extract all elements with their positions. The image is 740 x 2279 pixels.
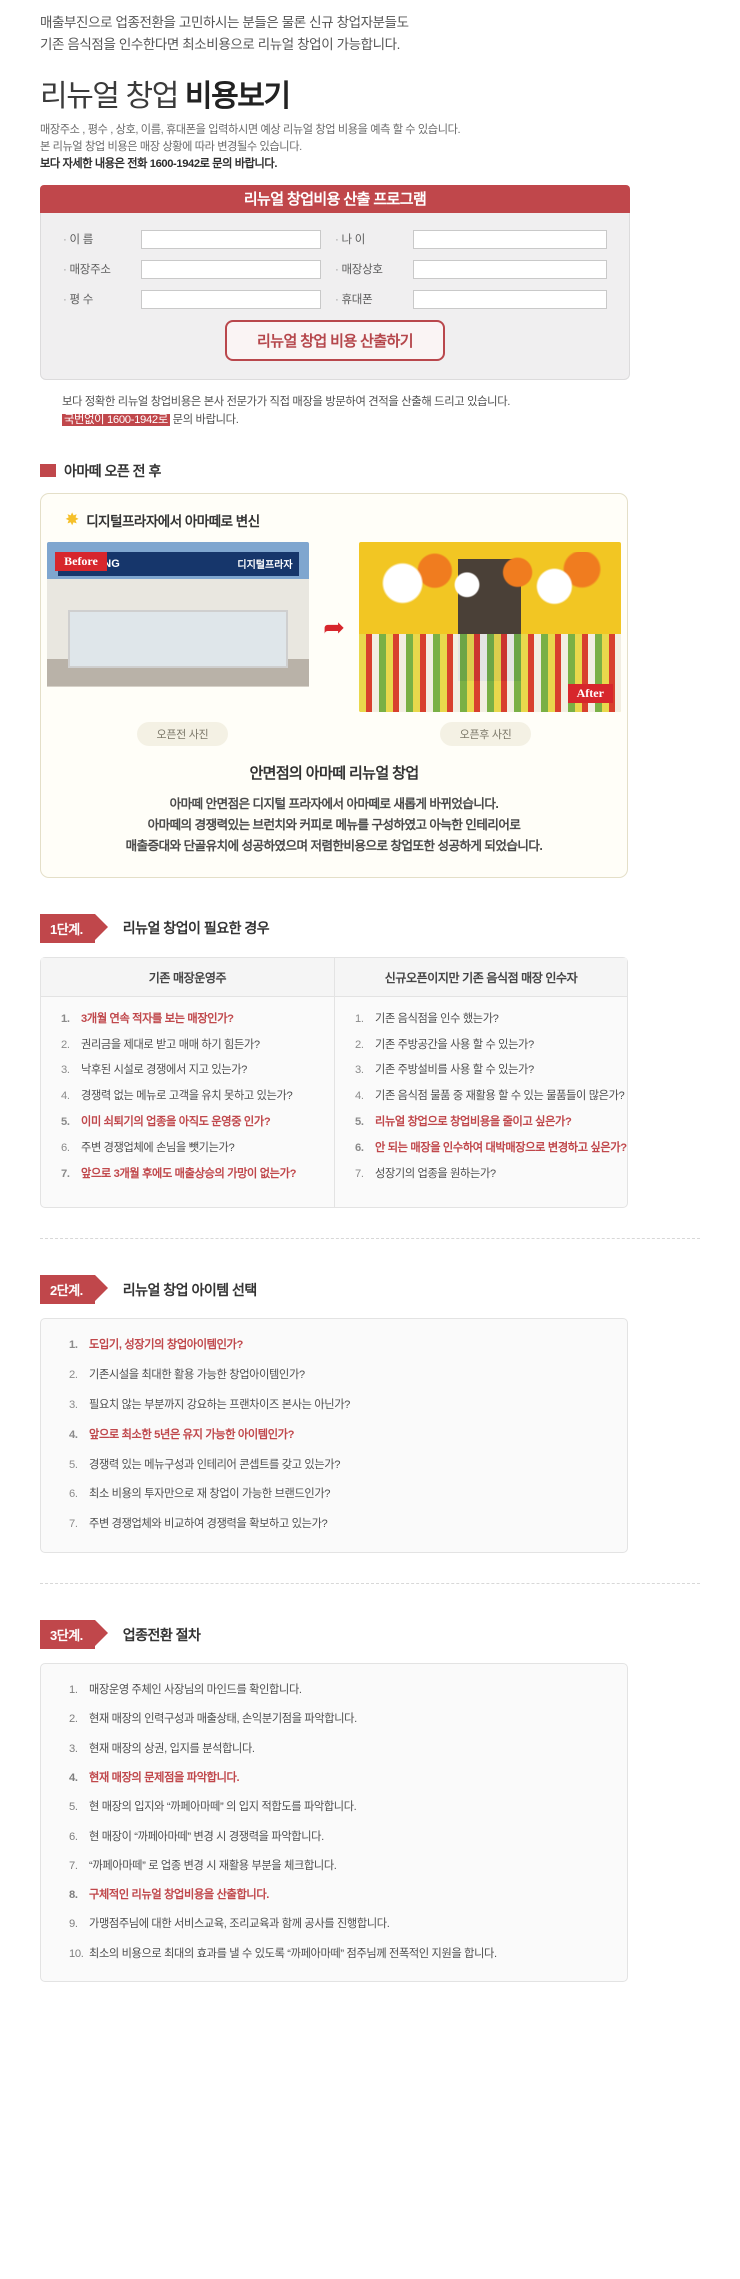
bullet-icon: ·	[335, 294, 339, 306]
list-item: 필요치 않는 부분까지 강요하는 프랜차이즈 본사는 아닌가?	[69, 1397, 611, 1414]
list-item: 현재 매장의 인력구성과 매출상태, 손익분기점을 파악합니다.	[69, 1711, 611, 1728]
bullet-icon: ·	[335, 264, 339, 276]
before-badge: Before	[55, 552, 107, 571]
amate-section: 아마떼 오픈 전 후 ✸ 디지털프라자에서 아마떼로 변신 SAMSUNG 디지…	[40, 461, 740, 878]
balloon-arch	[375, 552, 606, 630]
amate-subheading: 디지털프라자에서 아마떼로 변신	[86, 510, 259, 530]
step-1-col-1-header: 기존 매장운영주	[41, 958, 334, 997]
after-caption-wrap: 오픈후 사진	[362, 722, 609, 746]
step-1-col-1-list: 3개월 연속 적자를 보는 매장인가? 권리금을 제대로 받고 매매 하기 힘든…	[41, 997, 334, 1183]
photo-captions-row: 오픈전 사진 오픈후 사진	[59, 722, 609, 746]
field-store-address-label: ·매장주소	[63, 261, 141, 277]
amate-description: 안면점의 아마떼 리뉴얼 창업 아마떼 안면점은 디지털 프라자에서 아마떼로 …	[59, 762, 609, 857]
list-item: 기존 음식점을 인수 했는가?	[355, 1011, 611, 1028]
page-title-bold: 비용보기	[185, 80, 290, 113]
step-1-panel: 기존 매장운영주 3개월 연속 적자를 보는 매장인가? 권리금을 제대로 받고…	[40, 957, 628, 1209]
field-name-label: ·이 름	[63, 231, 141, 247]
mobile-input[interactable]	[413, 290, 607, 309]
before-block: SAMSUNG 디지털프라자 Before	[47, 542, 309, 712]
transform-arrow: ➦	[323, 542, 345, 712]
step-2-list: 도입기, 성장기의 창업아이템인가? 기존시설을 최대한 활용 가능한 창업아이…	[41, 1319, 627, 1552]
step-1-column-new-acquirer: 신규오픈이지만 기존 음식점 매장 인수자 기존 음식점을 인수 했는가? 기존…	[334, 958, 627, 1208]
step-1-col-2-list: 기존 음식점을 인수 했는가? 기존 주방공간을 사용 할 수 있는가? 기존 …	[335, 997, 627, 1183]
before-caption: 오픈전 사진	[137, 722, 229, 746]
calculate-cost-button[interactable]: 리뉴얼 창업 비용 산출하기	[225, 320, 445, 361]
step-3-section: 3단계. 업종전환 절차 매장운영 주체인 사장님의 마인드를 확인합니다. 현…	[40, 1620, 740, 1982]
list-item: “까페아마떼” 로 업종 변경 시 재활용 부분을 체크합니다.	[69, 1858, 611, 1875]
cost-section: 리뉴얼 창업 비용보기 매장주소 , 평수 , 상호, 이름, 휴대폰을 입력하…	[0, 56, 740, 429]
form-row-1: ·이 름 ·나 이	[63, 230, 607, 249]
section-divider-1	[40, 1238, 700, 1239]
arrow-right-icon: ➦	[323, 614, 345, 640]
list-item: 현 매장의 입지와 “까페아마떼” 의 입지 적합도를 파악합니다.	[69, 1799, 611, 1816]
calculator-note-line-2: 국번없이 1600-1942로 문의 바랍니다.	[62, 411, 740, 429]
area-input[interactable]	[141, 290, 321, 309]
cost-desc-line-2: 본 리뉴얼 창업 비용은 매장 상황에 따라 변경될수 있습니다.	[40, 139, 740, 156]
amate-body-line-2: 아마떼의 경쟁력있는 브런치와 커피로 메뉴를 구성하였고 아늑한 인테리어로	[59, 815, 609, 836]
field-area-label-text: 평 수	[70, 294, 93, 306]
amate-body-title: 안면점의 아마떼 리뉴얼 창업	[59, 762, 609, 783]
before-sign-kr: 디지털프라자	[237, 556, 292, 571]
field-store-address-label-text: 매장주소	[70, 264, 111, 276]
age-input[interactable]	[413, 230, 607, 249]
step-3-tag: 3단계.	[40, 1620, 95, 1649]
caption-spacer	[320, 722, 348, 746]
after-caption: 오픈후 사진	[440, 722, 532, 746]
calculator-header: 리뉴얼 창업비용 산출 프로그램	[40, 185, 630, 213]
list-item: 구체적인 리뉴얼 창업비용을 산출합니다.	[69, 1887, 611, 1904]
name-input[interactable]	[141, 230, 321, 249]
field-store-name: ·매장상호	[335, 260, 607, 279]
list-item: 주변 경쟁업체와 비교하여 경쟁력을 확보하고 있는가?	[69, 1516, 611, 1533]
intro-line-2: 기존 음식점을 인수한다면 최소비용으로 리뉴얼 창업이 가능합니다.	[40, 34, 740, 56]
before-photo: SAMSUNG 디지털프라자 Before	[47, 542, 309, 712]
field-store-address: ·매장주소	[63, 260, 335, 279]
field-age-label-text: 나 이	[342, 234, 365, 246]
after-photo: After	[359, 542, 621, 712]
field-mobile-label-text: 휴대폰	[342, 294, 373, 306]
page-title: 리뉴얼 창업 비용보기	[40, 80, 740, 113]
list-item: 안 되는 매장을 인수하여 대박매장으로 변경하고 싶은가?	[355, 1140, 611, 1157]
step-3-title: 업종전환 절차	[123, 1625, 201, 1645]
step-1-column-existing-owner: 기존 매장운영주 3개월 연속 적자를 보는 매장인가? 권리금을 제대로 받고…	[41, 958, 334, 1208]
list-item: 3개월 연속 적자를 보는 매장인가?	[61, 1011, 318, 1028]
before-storefront-glass	[68, 610, 288, 668]
list-item: 성장기의 업종을 원하는가?	[355, 1166, 611, 1183]
cost-desc-line-1: 매장주소 , 평수 , 상호, 이름, 휴대폰을 입력하시면 예상 리뉴얼 창업…	[40, 122, 740, 139]
after-block: After	[359, 542, 621, 712]
field-age: ·나 이	[335, 230, 607, 249]
red-square-icon	[40, 464, 56, 477]
page-root: 매출부진으로 업종전환을 고민하시는 분들은 물론 신규 창업자분들도 기존 음…	[0, 0, 740, 1982]
step-2-header: 2단계. 리뉴얼 창업 아이템 선택	[40, 1275, 740, 1304]
step-1-header: 1단계. 리뉴얼 창업이 필요한 경우	[40, 914, 740, 943]
field-store-name-label: ·매장상호	[335, 261, 413, 277]
after-badge: After	[568, 684, 613, 703]
field-name-label-text: 이 름	[70, 234, 93, 246]
step-3-panel: 매장운영 주체인 사장님의 마인드를 확인합니다. 현재 매장의 인력구성과 매…	[40, 1663, 628, 1982]
field-area-label: ·평 수	[63, 291, 141, 307]
bullet-icon: ·	[63, 234, 67, 246]
cost-description: 매장주소 , 평수 , 상호, 이름, 휴대폰을 입력하시면 예상 리뉴얼 창업…	[40, 122, 740, 173]
step-2-section: 2단계. 리뉴얼 창업 아이템 선택 도입기, 성장기의 창업아이템인가? 기존…	[40, 1275, 740, 1553]
amate-heading-row: 아마떼 오픈 전 후	[40, 461, 740, 481]
step-1-tag: 1단계.	[40, 914, 95, 943]
form-row-3: ·평 수 ·휴대폰	[63, 290, 607, 309]
bullet-icon: ·	[335, 234, 339, 246]
list-item: 현재 매장의 문제점을 파악합니다.	[69, 1770, 611, 1787]
field-age-label: ·나 이	[335, 231, 413, 247]
list-item: 현재 매장의 상권, 입지를 분석합니다.	[69, 1741, 611, 1758]
list-item: 낙후된 시설로 경쟁에서 지고 있는가?	[61, 1062, 318, 1079]
list-item: 앞으로 최소한 5년은 유지 가능한 아이템인가?	[69, 1427, 611, 1444]
step-2-panel: 도입기, 성장기의 창업아이템인가? 기존시설을 최대한 활용 가능한 창업아이…	[40, 1318, 628, 1553]
list-item: 기존 주방설비를 사용 할 수 있는가?	[355, 1062, 611, 1079]
list-item: 주변 경쟁업체에 손님을 뺏기는가?	[61, 1140, 318, 1157]
amate-heading: 아마떼 오픈 전 후	[64, 461, 161, 481]
calculator-note: 보다 정확한 리뉴얼 창업비용은 본사 전문가가 직접 매장을 방문하여 견적을…	[62, 393, 740, 429]
bullet-icon: ·	[63, 294, 67, 306]
amate-subheading-row: ✸ 디지털프라자에서 아마떼로 변신	[65, 510, 609, 530]
phone-note-tail: 문의 바랍니다.	[170, 414, 239, 426]
step-1-columns: 기존 매장운영주 3개월 연속 적자를 보는 매장인가? 권리금을 제대로 받고…	[41, 958, 627, 1208]
intro-line-1: 매출부진으로 업종전환을 고민하시는 분들은 물론 신규 창업자분들도	[40, 12, 740, 34]
calculator-body: ·이 름 ·나 이 ·매장주소 ·매장상호	[40, 213, 630, 380]
intro-text: 매출부진으로 업종전환을 고민하시는 분들은 물론 신규 창업자분들도 기존 음…	[0, 0, 740, 56]
list-item: 기존 음식점 물품 중 재활용 할 수 있는 물품들이 많은가?	[355, 1088, 611, 1105]
store-address-input[interactable]	[141, 260, 321, 279]
amate-panel: ✸ 디지털프라자에서 아마떼로 변신 SAMSUNG 디지털프라자 Before…	[40, 493, 628, 878]
submit-row: 리뉴얼 창업 비용 산출하기	[63, 320, 607, 361]
field-area: ·평 수	[63, 290, 335, 309]
cost-desc-line-3: 보다 자세한 내용은 전화 1600-1942로 문의 바랍니다.	[40, 156, 740, 173]
list-item: 앞으로 3개월 후에도 매출상승의 가망이 없는가?	[61, 1166, 318, 1183]
field-store-name-label-text: 매장상호	[342, 264, 383, 276]
list-item: 도입기, 성장기의 창업아이템인가?	[69, 1337, 611, 1354]
list-item: 경쟁력 있는 메뉴구성과 인테리어 콘셉트를 갖고 있는가?	[69, 1457, 611, 1474]
star-icon: ✸	[65, 511, 79, 528]
field-mobile: ·휴대폰	[335, 290, 607, 309]
cost-calculator-panel: 리뉴얼 창업비용 산출 프로그램 ·이 름 ·나 이 ·매장주소	[40, 185, 630, 380]
before-caption-wrap: 오픈전 사진	[59, 722, 306, 746]
phone-highlight: 국번없이 1600-1942로	[62, 414, 170, 426]
step-2-tag: 2단계.	[40, 1275, 95, 1304]
list-item: 최소 비용의 투자만으로 재 창업이 가능한 브랜드인가?	[69, 1486, 611, 1503]
step-1-title: 리뉴얼 창업이 필요한 경우	[123, 918, 269, 938]
list-item: 권리금을 제대로 받고 매매 하기 힘든가?	[61, 1037, 318, 1054]
list-item: 경쟁력 없는 메뉴로 고객을 유치 못하고 있는가?	[61, 1088, 318, 1105]
field-name: ·이 름	[63, 230, 335, 249]
list-item: 현 매장이 “까페아마떼” 변경 시 경쟁력을 파악합니다.	[69, 1829, 611, 1846]
list-item: 이미 쇠퇴기의 업종을 아직도 운영중 인가?	[61, 1114, 318, 1131]
list-item: 매장운영 주체인 사장님의 마인드를 확인합니다.	[69, 1682, 611, 1699]
list-item: 가맹점주님에 대한 서비스교육, 조리교육과 함께 공사를 진행합니다.	[69, 1916, 611, 1933]
bullet-icon: ·	[63, 264, 67, 276]
list-item: 리뉴얼 창업으로 창업비용을 줄이고 싶은가?	[355, 1114, 611, 1131]
amate-body-line-1: 아마떼 안면점은 디지털 프라자에서 아마떼로 새롭게 바뀌었습니다.	[59, 794, 609, 815]
step-1-col-2-header: 신규오픈이지만 기존 음식점 매장 인수자	[335, 958, 627, 997]
step-1-section: 1단계. 리뉴얼 창업이 필요한 경우 기존 매장운영주 3개월 연속 적자를 …	[40, 914, 740, 1209]
step-3-header: 3단계. 업종전환 절차	[40, 1620, 740, 1649]
step-2-title: 리뉴얼 창업 아이템 선택	[123, 1280, 257, 1300]
amate-body-line-3: 매출증대와 단골유치에 성공하였으며 저렴한비용으로 창업또한 성공하게 되었습…	[59, 836, 609, 857]
step-3-list: 매장운영 주체인 사장님의 마인드를 확인합니다. 현재 매장의 인력구성과 매…	[41, 1664, 627, 1981]
page-title-light: 리뉴얼 창업	[40, 80, 185, 113]
field-mobile-label: ·휴대폰	[335, 291, 413, 307]
store-name-input[interactable]	[413, 260, 607, 279]
list-item: 기존 주방공간을 사용 할 수 있는가?	[355, 1037, 611, 1054]
section-divider-2	[40, 1583, 700, 1584]
list-item: 최소의 비용으로 최대의 효과를 낼 수 있도록 “까페아마떼” 점주님께 전폭…	[69, 1946, 611, 1963]
before-after-row: SAMSUNG 디지털프라자 Before ➦ After	[59, 542, 609, 712]
calculator-note-line-1: 보다 정확한 리뉴얼 창업비용은 본사 전문가가 직접 매장을 방문하여 견적을…	[62, 393, 740, 411]
form-row-2: ·매장주소 ·매장상호	[63, 260, 607, 279]
list-item: 기존시설을 최대한 활용 가능한 창업아이템인가?	[69, 1367, 611, 1384]
